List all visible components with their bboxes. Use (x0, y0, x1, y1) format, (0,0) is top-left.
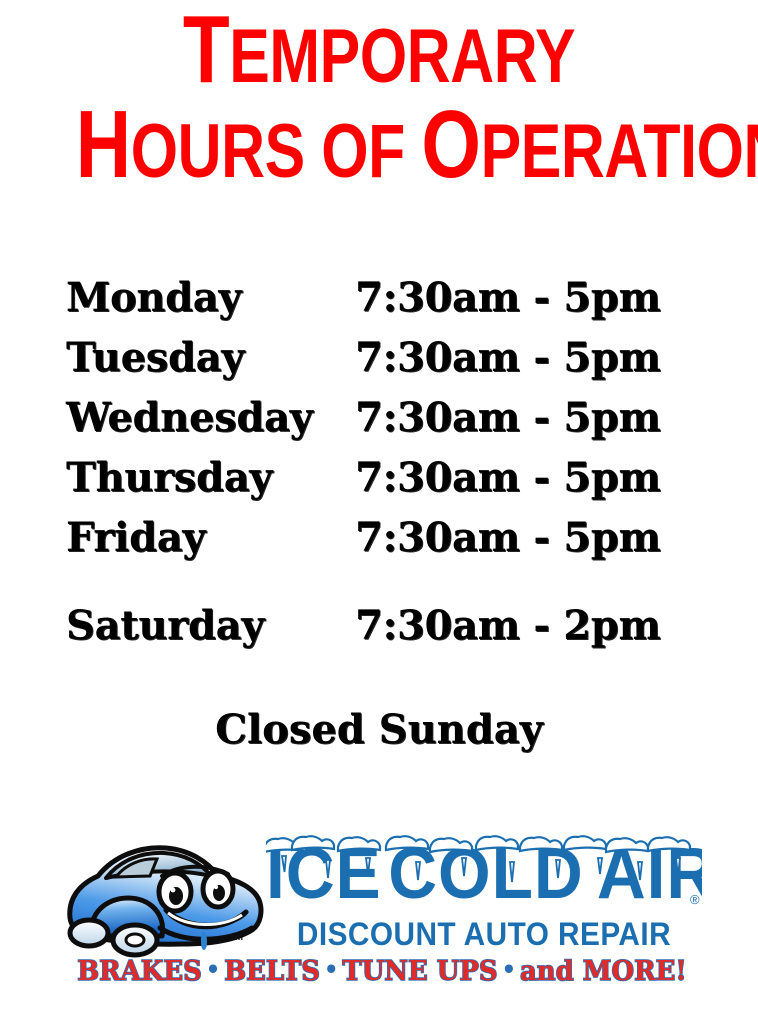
hours-of-operation-sign: TEMPORARY HOURS OF OPERATION Monday 7:30… (0, 0, 758, 1017)
page-title: TEMPORARY HOURS OF OPERATION (0, 12, 758, 188)
closed-note: Closed Sunday (215, 706, 543, 753)
ice-cold-air-logo: sm ICE COLD AIR (62, 832, 702, 992)
hours-value: 7:30am - 5pm (355, 398, 660, 438)
title-drop-cap-o: O (421, 91, 480, 198)
title-line-hours-of-operation: HOURS OF OPERATION (76, 107, 682, 188)
registered-mark-icon: ® (690, 892, 700, 907)
title-word-of: OF (321, 109, 421, 194)
hours-table: Monday 7:30am - 5pm Tuesday 7:30am - 5pm… (0, 278, 758, 750)
day-label: Monday (66, 278, 355, 318)
hours-value: 7:30am - 2pm (355, 606, 660, 646)
closed-note-row: Closed Sunday (0, 710, 758, 750)
tagline-bullet-icon: • (498, 955, 520, 984)
day-label: Friday (66, 518, 355, 558)
title-word-ours: OURS (131, 109, 322, 194)
title-line-temporary: TEMPORARY (76, 12, 682, 93)
table-row: Thursday 7:30am - 5pm (0, 458, 758, 518)
logo-subtitle: DISCOUNT AUTO REPAIR (283, 918, 685, 950)
table-row: Saturday 7:30am - 2pm (0, 606, 758, 666)
tagline-item-and-more: and MORE! (520, 956, 687, 987)
logo-wordmark-group: ICE COLD AIR (266, 832, 702, 944)
day-label: Wednesday (66, 398, 355, 438)
day-label: Saturday (66, 606, 355, 646)
hours-value: 7:30am - 5pm (355, 338, 660, 378)
table-row: Wednesday 7:30am - 5pm (0, 398, 758, 458)
table-row: Monday 7:30am - 5pm (0, 278, 758, 338)
title-word-peration: PERATION (481, 109, 758, 194)
title-drop-cap-t: T (183, 0, 229, 103)
logo-tagline: BRAKES•BELTS•TUNE UPS•and MORE! (75, 958, 689, 985)
title-rest-temporary: EMPORARY (229, 14, 575, 99)
day-label: Tuesday (66, 338, 355, 378)
table-row: Friday 7:30am - 5pm (0, 518, 758, 578)
title-drop-cap-h: H (76, 91, 131, 198)
tagline-bullet-icon: • (320, 955, 342, 984)
tagline-bullet-icon: • (202, 955, 224, 984)
service-mark: sm (230, 932, 243, 942)
tagline-item-tune-ups: TUNE UPS (342, 956, 497, 987)
hours-value: 7:30am - 5pm (355, 518, 660, 558)
ice-cold-air-wordmark: ICE COLD AIR (266, 832, 702, 910)
hours-value: 7:30am - 5pm (355, 458, 660, 498)
tagline-item-brakes: BRAKES (77, 956, 202, 987)
day-label: Thursday (66, 458, 355, 498)
tagline-item-belts: BELTS (224, 956, 320, 987)
table-row: Tuesday 7:30am - 5pm (0, 338, 758, 398)
hours-value: 7:30am - 5pm (355, 278, 660, 318)
